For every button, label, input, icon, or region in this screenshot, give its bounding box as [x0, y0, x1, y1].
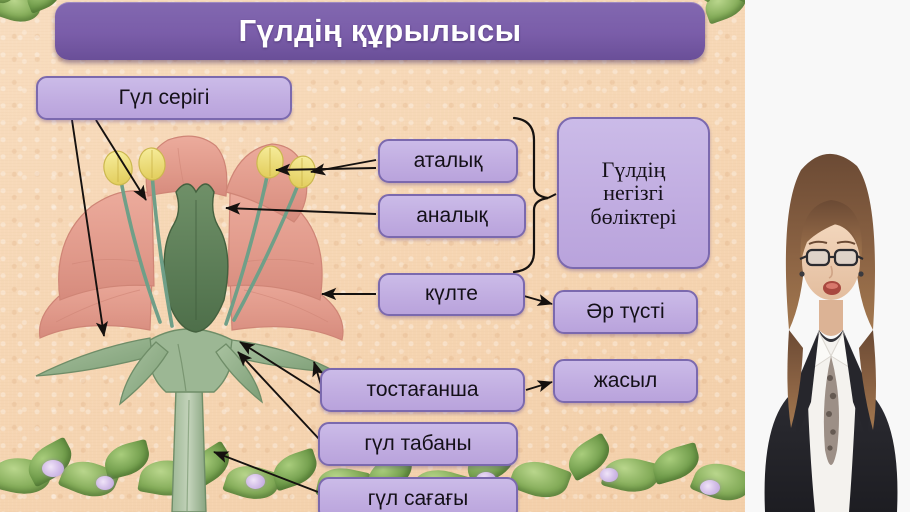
- lesson-slide: Гүлдің құрылысы Гүл серігі аталық аналық…: [0, 0, 745, 512]
- label-main-parts[interactable]: Гүлдің негізгі бөліктері: [557, 117, 710, 269]
- presenter-figure: [745, 0, 910, 512]
- main-parts-line-2: негізгі: [603, 181, 664, 204]
- label-corolla-property[interactable]: Әр түсті: [553, 290, 698, 334]
- slide-with-presenter: Гүлдің құрылысы Гүл серігі аталық аналық…: [0, 0, 910, 512]
- label-stamen[interactable]: аталық: [378, 139, 518, 183]
- main-parts-line-3: бөліктері: [590, 205, 676, 228]
- label-receptacle[interactable]: гүл табаны: [318, 422, 518, 466]
- slide-title: Гүлдің құрылысы: [55, 2, 705, 60]
- presenter-video[interactable]: [745, 0, 910, 512]
- label-corolla[interactable]: күлте: [378, 273, 525, 316]
- label-calyx[interactable]: тостағанша: [320, 368, 525, 412]
- label-calyx-property[interactable]: жасыл: [553, 359, 698, 403]
- label-pistil[interactable]: аналық: [378, 194, 526, 238]
- label-pedicel[interactable]: гүл сағағы: [318, 477, 518, 512]
- main-parts-line-1: Гүлдің: [602, 158, 666, 181]
- label-perianth[interactable]: Гүл серігі: [36, 76, 292, 120]
